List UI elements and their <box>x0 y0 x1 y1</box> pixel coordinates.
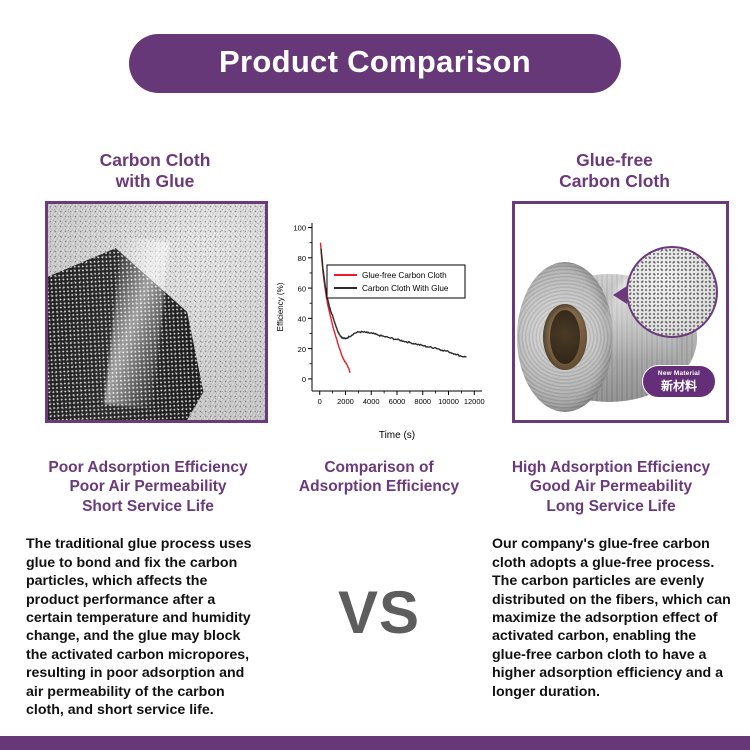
magnifier-pointer-icon <box>613 286 627 304</box>
left-benefit-2: Poor Air Permeability <box>26 477 270 496</box>
chart-y-tick-label: 40 <box>298 315 306 324</box>
page-title: Product Comparison <box>185 45 565 79</box>
chart-legend-box <box>327 265 465 298</box>
glue-free-carbon-cloth-image: New Material 新材料 <box>512 201 729 423</box>
chart-y-tick-label: 20 <box>298 345 306 354</box>
bottom-accent-bar <box>0 736 750 750</box>
chart-y-tick-label: 0 <box>302 375 306 384</box>
right-description-paragraph: Our company's glue-free carbon cloth ado… <box>492 535 732 701</box>
chart-legend-label-2: Carbon Cloth With Glue <box>362 284 449 293</box>
chart-x-tick-label: 0 <box>318 397 322 406</box>
chart-y-tick-label: 80 <box>298 254 306 263</box>
chart-x-axis-title: Time (s) <box>379 430 415 441</box>
chart-series-1 <box>321 243 350 373</box>
chart-caption: Comparison of Adsorption Efficiency <box>286 458 472 497</box>
vs-label: VS <box>286 578 472 647</box>
left-benefits-heading: Poor Adsorption Efficiency Poor Air Perm… <box>26 458 270 516</box>
left-benefit-3: Short Service Life <box>26 497 270 516</box>
chart-x-tick-label: 6000 <box>389 397 406 406</box>
right-column-heading-line1: Glue-free <box>492 150 737 171</box>
chart-svg: 020406080100020004000600080001000012000T… <box>272 205 488 445</box>
chart-x-tick-label: 8000 <box>414 397 431 406</box>
right-benefits-heading: High Adsorption Efficiency Good Air Perm… <box>486 458 736 516</box>
left-column-heading-line2: with Glue <box>35 171 275 192</box>
adsorption-efficiency-chart: 020406080100020004000600080001000012000T… <box>272 205 488 445</box>
chart-caption-line2: Adsorption Efficiency <box>286 477 472 496</box>
chart-x-tick-label: 10000 <box>438 397 459 406</box>
left-description-paragraph: The traditional glue process uses glue t… <box>26 535 263 720</box>
right-benefit-1: High Adsorption Efficiency <box>486 458 736 477</box>
left-benefit-1: Poor Adsorption Efficiency <box>26 458 270 477</box>
new-material-badge-en: New Material <box>658 371 700 378</box>
chart-y-tick-label: 100 <box>293 224 306 233</box>
left-column-heading: Carbon Cloth with Glue <box>35 150 275 193</box>
fiber-closeup-magnifier <box>626 246 718 338</box>
chart-legend-label-1: Glue-free Carbon Cloth <box>362 271 447 280</box>
right-benefit-3: Long Service Life <box>486 497 736 516</box>
left-column-heading-line1: Carbon Cloth <box>35 150 275 171</box>
cloth-roll-core-hole <box>550 310 580 364</box>
chart-y-axis-title: Efficiency (%) <box>276 282 285 331</box>
chart-caption-line1: Comparison of <box>286 458 472 477</box>
right-benefit-2: Good Air Permeability <box>486 477 736 496</box>
title-banner: Product Comparison <box>129 34 621 93</box>
carbon-cloth-with-glue-image <box>45 201 268 423</box>
chart-x-tick-label: 4000 <box>363 397 380 406</box>
right-column-heading: Glue-free Carbon Cloth <box>492 150 737 193</box>
right-column-heading-line2: Carbon Cloth <box>492 171 737 192</box>
title-banner-wrap: Product Comparison <box>0 34 750 93</box>
chart-x-tick-label: 12000 <box>464 397 485 406</box>
chart-y-tick-label: 60 <box>298 284 306 293</box>
new-material-badge-cn: 新材料 <box>661 380 697 392</box>
new-material-badge: New Material 新材料 <box>642 365 716 398</box>
chart-x-tick-label: 2000 <box>337 397 354 406</box>
